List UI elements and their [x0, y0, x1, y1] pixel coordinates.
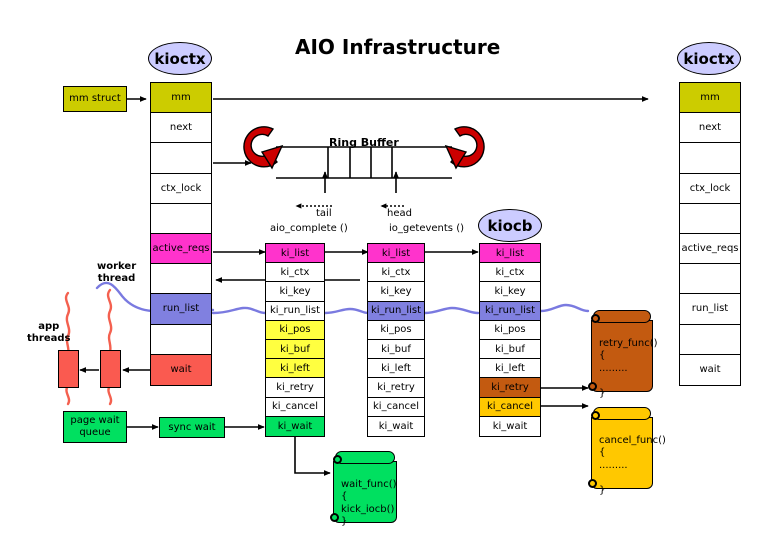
left-kioctx-row-label: run_list — [163, 303, 199, 314]
kiocb-1-row-label: ki_buf — [280, 344, 310, 355]
left-kioctx-row-run_list: run_list — [151, 294, 211, 324]
retry-func-note: retry_func() { ......... } — [591, 310, 653, 392]
aio-complete-label: aio_complete () — [270, 211, 348, 235]
mm-struct-label: mm struct — [69, 93, 121, 105]
aio-complete-text: aio_complete () — [270, 223, 348, 234]
kiocb-2-row-label: ki_run_list — [371, 305, 421, 316]
retry-func-text: retry_func() { ......... } — [599, 338, 658, 399]
left-kioctx-label-ellipse: kioctx — [148, 42, 212, 75]
kiocb-3-row-label: ki_ctx — [496, 267, 525, 278]
right-kioctx-row-ctx_lock: ctx_lock — [680, 174, 740, 204]
app-threads-text: app threads — [27, 321, 70, 344]
kiocb-label-ellipse: kiocb — [478, 209, 542, 242]
cancel-func-curl-bottom — [588, 479, 597, 488]
cancel-func-curl-top — [591, 411, 600, 420]
right-kioctx-row-blank-8 — [680, 325, 740, 355]
left-kioctx-row-label: active_reqs — [153, 243, 210, 254]
kiocb-2-row-ki_run_list: ki_run_list — [368, 302, 424, 321]
right-kioctx-row-label: wait — [699, 364, 720, 375]
app-thread-box-1 — [58, 350, 79, 388]
kiocb-2-row-label: ki_cancel — [373, 401, 419, 412]
kiocb-2-row-ki_list: ki_list — [368, 244, 424, 263]
kiocb-3-row-ki_run_list: ki_run_list — [480, 302, 540, 321]
kiocb-1-row-ki_wait: ki_wait — [266, 417, 324, 436]
kiocb-1-struct: ki_listki_ctxki_keyki_run_listki_poski_b… — [265, 243, 325, 437]
io-getevents-label: io_getevents () — [389, 211, 464, 235]
right-kioctx-label-ellipse: kioctx — [677, 42, 741, 75]
kiocb-3-struct: ki_listki_ctxki_keyki_run_listki_poski_b… — [479, 243, 541, 437]
cancel-func-top-curl — [593, 407, 651, 420]
io-getevents-text: io_getevents () — [389, 223, 464, 234]
kiocb-2-row-label: ki_key — [380, 286, 411, 297]
kiocb-2-row-label: ki_buf — [381, 344, 411, 355]
left-kioctx-row-label: mm — [171, 92, 190, 103]
kiocb-2-row-ki_left: ki_left — [368, 359, 424, 378]
sync-wait-box: sync wait — [159, 417, 225, 438]
right-kioctx-row-label: ctx_lock — [690, 183, 731, 194]
kiocb-3-row-ki_list: ki_list — [480, 244, 540, 263]
kiocb-1-row-label: ki_ctx — [281, 267, 310, 278]
page-title: AIO Infrastructure — [295, 35, 500, 59]
wait-func-text: wait_func() { kick_iocb() } — [341, 479, 397, 528]
kiocb-2-row-label: ki_list — [382, 248, 410, 259]
kiocb-3-row-label: ki_list — [496, 248, 524, 259]
left-kioctx-row-blank-6 — [151, 264, 211, 294]
kiocb-1-row-ki_run_list: ki_run_list — [266, 302, 324, 321]
wait-func-curl-top — [333, 455, 342, 464]
ring-buffer-title: Ring Buffer — [329, 125, 399, 149]
right-kioctx-row-label: next — [699, 122, 721, 133]
kiocb-2-row-ki_cancel: ki_cancel — [368, 398, 424, 417]
right-kioctx-row-blank-4 — [680, 204, 740, 234]
kiocb-2-row-ki_wait: ki_wait — [368, 417, 424, 436]
kiocb-1-row-ki_ctx: ki_ctx — [266, 263, 324, 282]
kiocb-3-row-ki_left: ki_left — [480, 359, 540, 378]
right-kioctx-row-label: run_list — [692, 303, 728, 314]
kiocb-1-row-label: ki_wait — [278, 421, 313, 432]
kiocb-1-row-label: ki_key — [279, 286, 310, 297]
right-kioctx-row-label: active_reqs — [682, 243, 739, 254]
kiocb-1-row-label: ki_left — [280, 363, 310, 374]
right-kioctx-row-active_reqs: active_reqs — [680, 234, 740, 264]
kiocb-3-row-label: ki_buf — [495, 344, 525, 355]
retry-func-top-curl — [593, 310, 651, 323]
diagram-canvas: AIO Infrastructure — [0, 0, 779, 540]
right-kioctx-row-mm: mm — [680, 83, 740, 113]
mm-struct-box: mm struct — [63, 86, 127, 112]
kiocb-2-row-label: ki_left — [381, 363, 411, 374]
kiocb-2-row-label: ki_wait — [379, 421, 414, 432]
left-kioctx-row-active_reqs: active_reqs — [151, 234, 211, 264]
cancel-func-body: cancel_func() { ......... } — [591, 417, 653, 489]
cancel-func-text: cancel_func() { ......... } — [599, 435, 666, 496]
right-kioctx-label-text: kioctx — [683, 50, 734, 68]
kiocb-3-row-label: ki_cancel — [487, 401, 533, 412]
kiocb-3-row-ki_cancel: ki_cancel — [480, 398, 540, 417]
kiocb-3-row-label: ki_retry — [491, 382, 529, 393]
left-kioctx-row-label: ctx_lock — [161, 183, 202, 194]
cancel-func-note: cancel_func() { ......... } — [591, 407, 653, 489]
kiocb-1-row-ki_retry: ki_retry — [266, 378, 324, 397]
left-kioctx-row-mm: mm — [151, 83, 211, 113]
left-kioctx-row-blank-4 — [151, 204, 211, 234]
kiocb-2-row-label: ki_retry — [377, 382, 415, 393]
right-kioctx-row-run_list: run_list — [680, 294, 740, 324]
kiocb-label-text: kiocb — [487, 217, 532, 235]
ring-rotate-arrow-right — [446, 127, 484, 168]
kiocb-2-row-label: ki_pos — [380, 324, 411, 335]
kiocb-1-row-ki_list: ki_list — [266, 244, 324, 263]
kiocb-3-row-ki_key: ki_key — [480, 282, 540, 301]
kiocb-2-row-label: ki_ctx — [382, 267, 411, 278]
right-kioctx-row-blank-6 — [680, 264, 740, 294]
wait-func-body: wait_func() { kick_iocb() } — [333, 461, 397, 523]
left-kioctx-struct: mmnextctx_lockactive_reqsrun_listwait — [150, 82, 212, 386]
left-kioctx-row-blank-2 — [151, 143, 211, 173]
app-threads-label: app threads — [27, 309, 70, 345]
sync-wait-label: sync wait — [168, 422, 215, 434]
kiocb-2-row-ki_key: ki_key — [368, 282, 424, 301]
page-wait-queue-box: page wait queue — [63, 411, 127, 443]
right-kioctx-row-blank-2 — [680, 143, 740, 173]
kiocb-3-row-ki_retry: ki_retry — [480, 378, 540, 397]
worker-thread-text: worker thread — [97, 261, 136, 284]
ring-rotate-arrow-left — [244, 127, 282, 168]
left-kioctx-row-ctx_lock: ctx_lock — [151, 174, 211, 204]
kiocb-2-row-ki_pos: ki_pos — [368, 321, 424, 340]
kiocb-3-row-ki_buf: ki_buf — [480, 340, 540, 359]
right-kioctx-struct: mmnextctx_lockactive_reqsrun_listwait — [679, 82, 741, 386]
right-kioctx-row-next: next — [680, 113, 740, 143]
kiocb-3-row-label: ki_pos — [494, 324, 525, 335]
kiocb-1-row-ki_left: ki_left — [266, 359, 324, 378]
left-kioctx-row-blank-8 — [151, 325, 211, 355]
kiocb-1-row-ki_pos: ki_pos — [266, 321, 324, 340]
page-wait-queue-label: page wait queue — [70, 415, 119, 439]
wait-func-top-curl — [335, 451, 395, 464]
kiocb-3-row-label: ki_left — [495, 363, 525, 374]
wait-func-curl-bottom — [330, 513, 339, 522]
kiocb-2-row-ki_retry: ki_retry — [368, 378, 424, 397]
left-kioctx-row-next: next — [151, 113, 211, 143]
left-kioctx-label-text: kioctx — [154, 50, 205, 68]
worker-thread-label: worker thread — [97, 249, 136, 285]
retry-func-body: retry_func() { ......... } — [591, 320, 653, 392]
kiocb-1-row-ki_buf: ki_buf — [266, 340, 324, 359]
kiocb-2-row-ki_buf: ki_buf — [368, 340, 424, 359]
kiocb-1-row-ki_cancel: ki_cancel — [266, 398, 324, 417]
kiocb-3-row-ki_pos: ki_pos — [480, 321, 540, 340]
left-kioctx-row-label: wait — [170, 364, 191, 375]
kiocb-3-row-label: ki_wait — [493, 421, 528, 432]
kiocb-1-row-label: ki_list — [281, 248, 309, 259]
kiocb-3-row-ki_ctx: ki_ctx — [480, 263, 540, 282]
app-thread-box-2 — [100, 350, 121, 388]
left-kioctx-row-wait: wait — [151, 355, 211, 385]
kiocb-2-row-ki_ctx: ki_ctx — [368, 263, 424, 282]
retry-func-curl-bottom — [588, 382, 597, 391]
wait-func-note: wait_func() { kick_iocb() } — [333, 451, 397, 523]
retry-func-curl-top — [591, 314, 600, 323]
kiocb-1-row-ki_key: ki_key — [266, 282, 324, 301]
kiocb-1-row-label: ki_cancel — [272, 401, 318, 412]
kiocb-3-row-ki_wait: ki_wait — [480, 417, 540, 436]
kiocb-1-row-label: ki_pos — [279, 324, 310, 335]
kiocb-1-row-label: ki_retry — [276, 382, 314, 393]
kiocb-3-row-label: ki_run_list — [485, 305, 535, 316]
right-kioctx-row-label: mm — [700, 92, 719, 103]
kiocb-1-row-label: ki_run_list — [270, 305, 320, 316]
right-kioctx-row-wait: wait — [680, 355, 740, 385]
kiocb-3-row-label: ki_key — [494, 286, 525, 297]
kiocb-2-struct: ki_listki_ctxki_keyki_run_listki_poski_b… — [367, 243, 425, 437]
ring-buffer-title-text: Ring Buffer — [329, 136, 399, 149]
left-kioctx-row-label: next — [170, 122, 192, 133]
